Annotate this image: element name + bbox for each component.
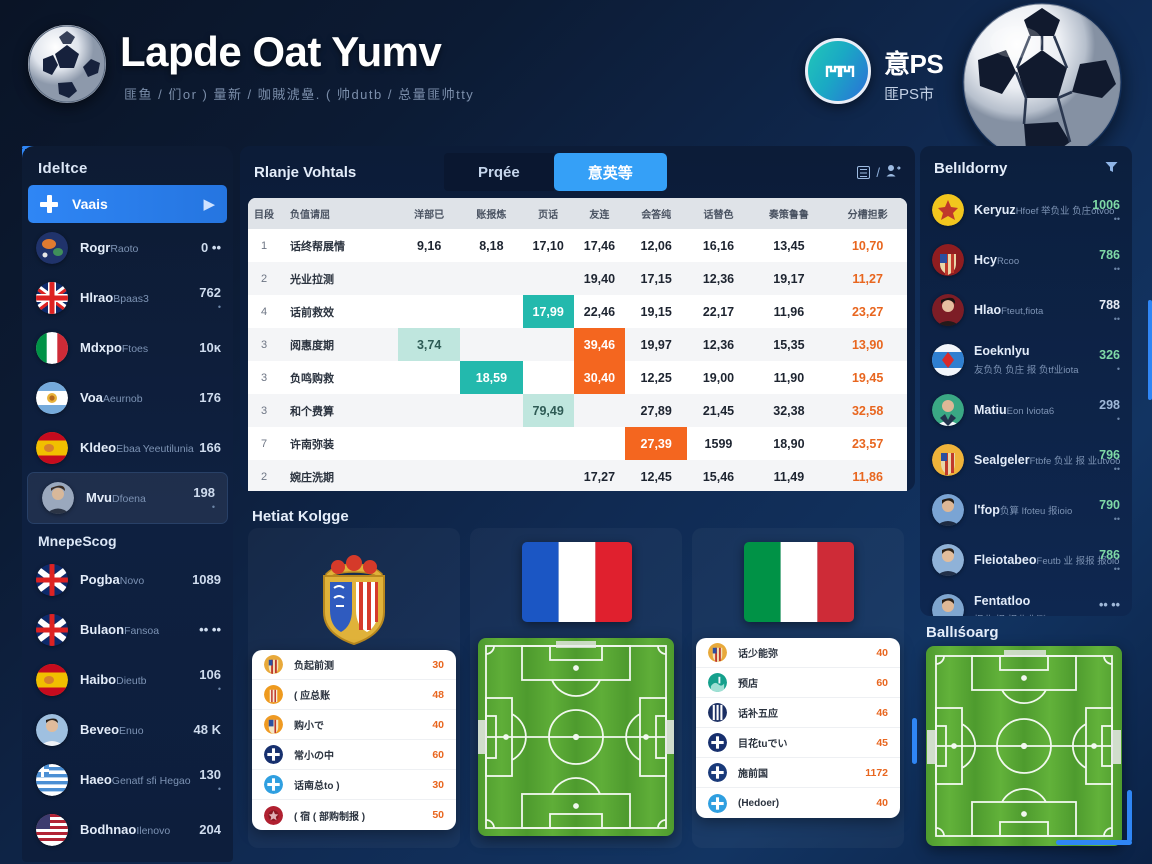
right-item-sub: •• [1099, 264, 1120, 274]
right-item-name: Sealgeler [974, 453, 1030, 467]
sidebar-item-desc: Novo [120, 575, 145, 587]
table-row[interactable]: 3负鸣购救18,5930,4012,2519,0011,9019,45 [248, 361, 907, 394]
avatar [36, 564, 68, 596]
cell-name: 话终帮展情 [280, 229, 398, 262]
cell-value: 10,70 [828, 229, 907, 262]
col-header: 友连 [574, 198, 625, 229]
bottom-right-accent-left [912, 718, 917, 764]
col-header: 奏策鲁鲁 [750, 198, 829, 229]
cell-value: 12,25 [625, 361, 687, 394]
club-badge-icon [264, 806, 283, 825]
sidebar-list-2: PogbaNovo 1089 BulaonFansoa •• •• HaiboD… [22, 555, 233, 855]
right-item-sub: •• [1099, 564, 1120, 574]
right-item-value: 796 [1099, 448, 1120, 462]
avatar [36, 432, 68, 464]
italy-flag-icon [744, 542, 854, 622]
sidebar-item-name: Haeo [80, 772, 112, 787]
cell-value [460, 460, 522, 491]
card-row-value: 50 [432, 809, 444, 821]
cell-value [574, 427, 625, 460]
cell-value: 32,38 [750, 394, 829, 427]
tab-prqee[interactable]: Prqée [444, 153, 554, 191]
table-row[interactable]: 4话前救效17,9922,4619,1522,1711,9623,27 [248, 295, 907, 328]
right-item-name: Hlao [974, 303, 1001, 317]
cell-value: 15,46 [687, 460, 749, 491]
sidebar-list-item[interactable]: BulaonFansoa •• •• [22, 605, 233, 655]
cell-value: 19,40 [574, 262, 625, 295]
cell-value [523, 262, 574, 295]
cell-value: 19,00 [687, 361, 749, 394]
tab-group: Prqée 意英等 [444, 153, 667, 191]
card-row-name: ( 宿 ( 部购制报 ) [294, 808, 432, 823]
avatar [36, 714, 68, 746]
cell-name: 阅惠度期 [280, 328, 398, 361]
right-item-name: Fleiotabeo [974, 553, 1037, 567]
card-list-row[interactable]: ( 宿 ( 部购制报 )50 [252, 800, 456, 830]
card-list-row[interactable]: 常小の中60 [252, 740, 456, 770]
col-header: 洋部已 [398, 198, 460, 229]
list-view-icon[interactable] [857, 166, 870, 179]
soccer-ball-icon [28, 25, 106, 103]
sidebar-item-name: Rogr [80, 240, 110, 255]
club-badge-icon [708, 703, 727, 722]
card-row-value: 60 [432, 749, 444, 761]
sidebar-item-name: Beveo [80, 722, 119, 737]
card-list-row[interactable]: 目花tuでい45 [696, 728, 900, 758]
sidebar-item-sub: • [199, 684, 221, 694]
cell-value [460, 295, 522, 328]
sidebar-item-value: 10ĸ [199, 340, 221, 355]
club-badge-icon [264, 775, 283, 794]
cell-value: 13,90 [828, 328, 907, 361]
chevron-right-icon: ▶ [203, 195, 215, 213]
sidebar-scrollbar[interactable] [1148, 300, 1152, 400]
sidebar-list-item[interactable]: BeveoEnuo 48 K [22, 705, 233, 755]
cell-value: 9,16 [398, 229, 460, 262]
right-item-sub: • [1099, 414, 1120, 424]
avatar [932, 244, 964, 276]
sidebar-item-name: Pogba [80, 572, 120, 587]
sidebar-item-value: 166 [199, 440, 221, 455]
cell-value: 11,49 [750, 460, 829, 491]
sidebar-item-value: 762 [199, 285, 221, 300]
cell-value: 18,90 [750, 427, 829, 460]
card-row-name: 话补五应 [738, 705, 876, 720]
card-row-name: 目花tuでい [738, 735, 876, 750]
cell-value [523, 427, 574, 460]
avatar [42, 482, 74, 514]
cell-value: 21,45 [687, 394, 749, 427]
sidebar-item-active[interactable]: Vaais ▶ [28, 185, 227, 223]
card-row-value: 1172 [865, 767, 888, 779]
cell-value [460, 394, 522, 427]
cell-index: 3 [248, 328, 280, 361]
cell-value: 23,27 [828, 295, 907, 328]
tab-active[interactable]: 意英等 [554, 153, 667, 191]
sidebar-item-desc: Raoto [110, 243, 138, 255]
club-badge-icon [264, 715, 283, 734]
cell-value: 17,99 [523, 295, 574, 328]
avatar [932, 544, 964, 576]
page-subtitle: 匪鱼 / 们or ) 量新 / 咖賊淲皨. ( 帅dutb / 总量匪帅tty [124, 84, 474, 103]
sidebar-list-item[interactable]: KldeoEbaa Yeeutilunia 166 [22, 423, 233, 473]
avatar [932, 194, 964, 226]
share-user-icon[interactable] [886, 164, 901, 180]
cell-value: 1599 [687, 427, 749, 460]
badge-title: 意PS [884, 44, 943, 81]
cell-value: 11,27 [828, 262, 907, 295]
col-header-index: 目段 [248, 198, 280, 229]
card-row-value: 46 [876, 707, 888, 719]
sidebar-list-item[interactable]: HaeoGenatf sfi Hegao 130• [22, 755, 233, 805]
team-crest-icon[interactable] [805, 38, 871, 104]
right-item-name: Eoeknlyu [974, 344, 1030, 358]
table-row[interactable]: 2婉庄洗期17,2712,4515,4611,4911,86 [248, 460, 907, 491]
sidebar-item-desc: Dfoena [112, 493, 146, 505]
cell-value: 23,57 [828, 427, 907, 460]
cell-value: 22,46 [574, 295, 625, 328]
sidebar-item-name: Haibo [80, 672, 116, 687]
col-header: 分槽担影 [828, 198, 907, 229]
cell-value [460, 262, 522, 295]
right-item-sub: •• [1099, 464, 1120, 474]
avatar [932, 344, 964, 376]
avatar [36, 664, 68, 696]
sidebar-active-label: Vaais [72, 196, 203, 212]
right-item-name: Fentatloo [974, 594, 1030, 608]
cell-value [398, 394, 460, 427]
right-item-desc: 负算 Ifoteu 报ioio [1000, 506, 1072, 517]
sidebar-section-heading: MnepeScog [22, 523, 233, 555]
right-item-sub: •• [1099, 314, 1120, 324]
card-list-row[interactable]: 预店60 [696, 668, 900, 698]
card-row-name: 负起前测 [294, 657, 432, 672]
right-item-desc: 报业 报 报业业测 [974, 615, 1046, 616]
sidebar-list-1: RogrRaoto 0 •• HlraoBpaas3 762• MdxpoFto… [22, 223, 233, 523]
cell-value: 13,45 [750, 229, 829, 262]
cell-value [574, 394, 625, 427]
right-item-value: 1006 [1092, 198, 1120, 212]
avatar [932, 444, 964, 476]
main-panel: Rlanje Vohtals Prqée 意英等 / 目段 负值请屈 洋部已 账… [240, 146, 915, 491]
card-list-row[interactable]: (Hedoer)40 [696, 788, 900, 818]
cell-value [398, 460, 460, 491]
sidebar-list-item[interactable]: HlraoBpaas3 762• [22, 273, 233, 323]
avatar [932, 594, 964, 616]
cell-value: 12,06 [625, 229, 687, 262]
stats-table: 目段 负值请屈 洋部已 账报炼 页话 友连 会答纯 话替色 奏策鲁鲁 分槽担影 … [248, 198, 907, 491]
card-row-value: 40 [876, 647, 888, 659]
card-row-name: (Hedoer) [738, 798, 876, 809]
cell-value [398, 295, 460, 328]
sidebar-item-desc: Dieutb [116, 675, 146, 687]
cell-value: 11,86 [828, 460, 907, 491]
sidebar-item-value: •• •• [199, 622, 221, 637]
card-row-value: 60 [876, 677, 888, 689]
right-item-name: Keryuz [974, 203, 1016, 217]
card-list-row[interactable]: 施前国1172 [696, 758, 900, 788]
cell-name: 话前救效 [280, 295, 398, 328]
col-header: 会答纯 [625, 198, 687, 229]
right-panel-item[interactable]: Eoeknlyu友负负 负庄 报 负tf业iota326• [920, 335, 1132, 385]
table-body: 1话终帮展情9,168,1817,1017,4612,0616,1613,451… [248, 229, 907, 491]
filter-icon[interactable] [1105, 161, 1118, 176]
cell-value: 11,90 [750, 361, 829, 394]
right-panel-item[interactable]: HlaoFteut,fiota788•• [920, 285, 1132, 335]
right-item-value: •• •• [1099, 598, 1120, 612]
card-row-name: 常小の中 [294, 747, 432, 762]
sidebar-item-name: Bulaon [80, 622, 124, 637]
sidebar-item-name: Bodhnao [80, 822, 136, 837]
sidebar-item-value: 106 [199, 667, 221, 682]
club-badge-icon [708, 733, 727, 752]
bottom-right-accent-corner [1127, 790, 1132, 842]
cell-value [398, 427, 460, 460]
club-crest-icon [304, 540, 404, 655]
card-row-name: 购小で [294, 717, 432, 732]
right-panel-item[interactable]: MatiuEon Iviota6298• [920, 385, 1132, 435]
avatar [36, 282, 68, 314]
sidebar-list-item[interactable]: RogrRaoto 0 •• [22, 223, 233, 273]
left-sidebar: Ideltce Vaais ▶ RogrRaoto 0 •• HlraoBpaa… [22, 146, 233, 862]
cell-value [523, 361, 574, 394]
sidebar-item-desc: Ebaa Yeeutilunia [116, 443, 194, 455]
card-row-value: 40 [432, 719, 444, 731]
right-item-name: Matiu [974, 403, 1007, 417]
cell-value: 19,45 [828, 361, 907, 394]
cell-value [398, 361, 460, 394]
sidebar-item-value: 1089 [192, 572, 221, 587]
table-row[interactable]: 2光业拉测19,4017,1512,3619,1711,27 [248, 262, 907, 295]
cell-value: 17,15 [625, 262, 687, 295]
cell-value: 3,74 [398, 328, 460, 361]
cell-name: 光业拉测 [280, 262, 398, 295]
cell-value: 30,40 [574, 361, 625, 394]
cell-name: 许南弥装 [280, 427, 398, 460]
table-head: 目段 负值请屈 洋部已 账报炼 页话 友连 会答纯 话替色 奏策鲁鲁 分槽担影 [248, 198, 907, 229]
sidebar-item-sub: • [193, 502, 215, 512]
cell-name: 婉庄洗期 [280, 460, 398, 491]
table-header-row: 目段 负值请屈 洋部已 账报炼 页话 友连 会答纯 话替色 奏策鲁鲁 分槽担影 [248, 198, 907, 229]
sidebar-item-name: Mvu [86, 490, 112, 505]
left-card-list: 负起前测30( 应总账48购小で40常小の中60话南总to )30( 宿 ( 部… [252, 650, 456, 830]
badge-subtitle: 匪PS市 [884, 83, 943, 104]
sidebar-item-value: 0 •• [201, 240, 221, 255]
sidebar-item-desc: Ftoes [122, 343, 148, 355]
avatar [36, 814, 68, 846]
plus-icon [40, 195, 58, 213]
cell-value: 22,17 [687, 295, 749, 328]
avatar [36, 614, 68, 646]
sidebar-list-item[interactable]: BodhnaoIlenovo 204 [22, 805, 233, 855]
club-badge-icon [708, 673, 727, 692]
right-panel-item[interactable]: l'fop负算 Ifoteu 报ioio790•• [920, 485, 1132, 535]
card-row-value: 30 [432, 659, 444, 671]
club-badge-icon [708, 763, 727, 782]
sidebar-item-name: Voa [80, 390, 103, 405]
bottom-card-left: 负起前测30( 应总账48购小で40常小の中60话南总to )30( 宿 ( 部… [248, 528, 460, 848]
cell-value: 27,89 [625, 394, 687, 427]
right-item-sub: • [1099, 364, 1120, 374]
avatar [36, 382, 68, 414]
card-list-row[interactable]: 话补五应46 [696, 698, 900, 728]
cell-value: 39,46 [574, 328, 625, 361]
col-header: 账报炼 [460, 198, 522, 229]
sidebar-item-value: 176 [199, 390, 221, 405]
avatar [36, 764, 68, 796]
table-row[interactable]: 1话终帮展情9,168,1817,1017,4612,0616,1613,451… [248, 229, 907, 262]
cell-value: 19,15 [625, 295, 687, 328]
right-panel-item[interactable]: KeryuzHfoef 举负业 负庄otvoo1006•• [920, 185, 1132, 235]
bottom-section-title: Hetiat Kolgge [252, 508, 349, 525]
main-panel-icons: / [857, 164, 901, 180]
right-panel-item[interactable]: SealgelerFtbfe 负业 报 业utvoo796•• [920, 435, 1132, 485]
bottom-card-mid [470, 528, 682, 848]
bottom-right-accent-bottom [1056, 840, 1132, 845]
badge-text-group: 意PS 匪PS市 [884, 44, 943, 104]
cell-value: 18,59 [460, 361, 522, 394]
cell-index: 2 [248, 460, 280, 491]
avatar [932, 294, 964, 326]
sidebar-item-sub: • [199, 302, 221, 312]
right-panel-header: Belıldorny [920, 146, 1132, 185]
card-list-row[interactable]: 负起前测30 [252, 650, 456, 680]
sidebar-item-name: Kldeo [80, 440, 116, 455]
cell-value: 8,18 [460, 229, 522, 262]
right-item-desc: Rcoo [997, 256, 1019, 267]
cell-value [523, 460, 574, 491]
right-item-value: 298 [1099, 398, 1120, 412]
card-row-value: 40 [876, 797, 888, 809]
sidebar-list-item[interactable]: HaiboDieutb 106• [22, 655, 233, 705]
bottom-card-right: 话少能弥40预店60话补五应46目花tuでい45施前国1172(Hedoer)4… [692, 528, 904, 848]
sidebar-item-desc: Ilenovo [136, 825, 170, 837]
sidebar-item-desc: Bpaas3 [113, 293, 149, 305]
cell-value: 19,17 [750, 262, 829, 295]
col-header: 页话 [523, 198, 574, 229]
right-panel-item[interactable]: Fentatloo报业 报 报业业测•• •••• [920, 585, 1132, 616]
cell-index: 4 [248, 295, 280, 328]
sidebar-item-value: 198 [193, 485, 215, 500]
cell-index: 1 [248, 229, 280, 262]
card-list-row[interactable]: 话少能弥40 [696, 638, 900, 668]
main-panel-title: Rlanje Vohtals [254, 164, 444, 181]
cell-value [398, 262, 460, 295]
table-row[interactable]: 3阅惠度期3,7439,4619,9712,3615,3513,90 [248, 328, 907, 361]
sidebar-item-value: 130 [199, 767, 221, 782]
right-panel-list: KeryuzHfoef 举负业 负庄otvoo1006••HcyRcoo786•… [920, 185, 1132, 616]
soccer-ball-3d-icon [962, 2, 1122, 162]
cell-value: 12,36 [687, 262, 749, 295]
page-title: Lapde Oat Yumv [120, 28, 441, 76]
cell-index: 2 [248, 262, 280, 295]
sidebar-list-item[interactable]: VoaAeurnob 176 [22, 373, 233, 423]
sidebar-item-value: 48 K [194, 722, 221, 737]
right-item-name: l'fop [974, 503, 1000, 517]
football-pitch-icon [478, 638, 674, 836]
col-header: 话替色 [687, 198, 749, 229]
right-item-value: 786 [1099, 548, 1120, 562]
sidebar-item-name: Hlrao [80, 290, 113, 305]
card-row-name: 话南总to ) [294, 777, 432, 792]
right-item-value: 786 [1099, 248, 1120, 262]
cell-value: 17,27 [574, 460, 625, 491]
card-row-name: 预店 [738, 675, 876, 690]
cell-value [460, 427, 522, 460]
right-panel-title: Belıldorny [934, 160, 1105, 177]
cell-index: 7 [248, 427, 280, 460]
right-item-name: Hcy [974, 253, 997, 267]
france-flag-icon [522, 542, 632, 622]
sidebar-list-item[interactable]: MdxpoFtoes 10ĸ [22, 323, 233, 373]
right-item-desc: Eon Iviota6 [1007, 406, 1055, 417]
right-panel-item[interactable]: HcyRcoo786•• [920, 235, 1132, 285]
avatar [36, 332, 68, 364]
table-row[interactable]: 7许南弥装27,39159918,9023,57 [248, 427, 907, 460]
cell-value: 19,97 [625, 328, 687, 361]
club-badge-icon [264, 655, 283, 674]
sidebar-item-name: Mdxpo [80, 340, 122, 355]
card-row-value: 30 [432, 779, 444, 791]
card-list-row[interactable]: ( 应总账48 [252, 680, 456, 710]
card-row-name: ( 应总账 [294, 687, 432, 702]
cell-value: 12,36 [687, 328, 749, 361]
card-row-name: 话少能弥 [738, 645, 876, 660]
cell-value: 12,45 [625, 460, 687, 491]
cell-value: 15,35 [750, 328, 829, 361]
sidebar-item-desc: Fansoa [124, 625, 159, 637]
cell-value: 32,58 [828, 394, 907, 427]
sidebar-list-item-selected[interactable]: MvuDfoena 198• [28, 473, 227, 523]
sidebar-list-item[interactable]: PogbaNovo 1089 [22, 555, 233, 605]
right-panel-item[interactable]: FleiotabeoFeutb 业 报报 报oio786•• [920, 535, 1132, 585]
cell-value: 11,96 [750, 295, 829, 328]
cell-value: 17,10 [523, 229, 574, 262]
cell-value: 17,46 [574, 229, 625, 262]
avatar [932, 494, 964, 526]
separator-slash: / [876, 165, 880, 180]
cell-value: 79,49 [523, 394, 574, 427]
cell-index: 3 [248, 361, 280, 394]
cell-name: 和个费算 [280, 394, 398, 427]
right-card-list: 话少能弥40预店60话补五应46目花tuでい45施前国1172(Hedoer)4… [696, 638, 900, 818]
right-panel: Belıldorny KeryuzHfoef 举负业 负庄otvoo1006••… [920, 146, 1132, 616]
club-badge-icon [264, 745, 283, 764]
sidebar-item-value: 204 [199, 822, 221, 837]
app-header: Lapde Oat Yumv 匪鱼 / 们or ) 量新 / 咖賊淲皨. ( 帅… [0, 0, 1152, 140]
avatar [932, 394, 964, 426]
card-list-row[interactable]: 购小で40 [252, 710, 456, 740]
club-badge-icon [708, 643, 727, 662]
right-item-value: 788 [1099, 298, 1120, 312]
sidebar-item-desc: Genatf sfi Hegao [112, 775, 191, 787]
football-pitch-icon-2 [926, 646, 1122, 846]
sidebar-item-desc: Enuo [119, 725, 144, 737]
card-list-row[interactable]: 话南总to )30 [252, 770, 456, 800]
right-item-value: 790 [1099, 498, 1120, 512]
cell-name: 负鸣购救 [280, 361, 398, 394]
club-badge-icon [264, 685, 283, 704]
cell-value: 27,39 [625, 427, 687, 460]
cell-value: 16,16 [687, 229, 749, 262]
club-badge-icon [708, 794, 727, 813]
stats-table-wrapper: 目段 负值请屈 洋部已 账报炼 页话 友连 会答纯 话替色 奏策鲁鲁 分槽担影 … [248, 198, 907, 491]
sidebar-item-desc: Aeurnob [103, 393, 143, 405]
table-row[interactable]: 3和个费算79,4927,8921,4532,3832,58 [248, 394, 907, 427]
card-row-name: 施前国 [738, 765, 865, 780]
pitch-panel-title: Ballıśoarg [926, 624, 999, 641]
sidebar-heading: Ideltce [22, 146, 233, 185]
